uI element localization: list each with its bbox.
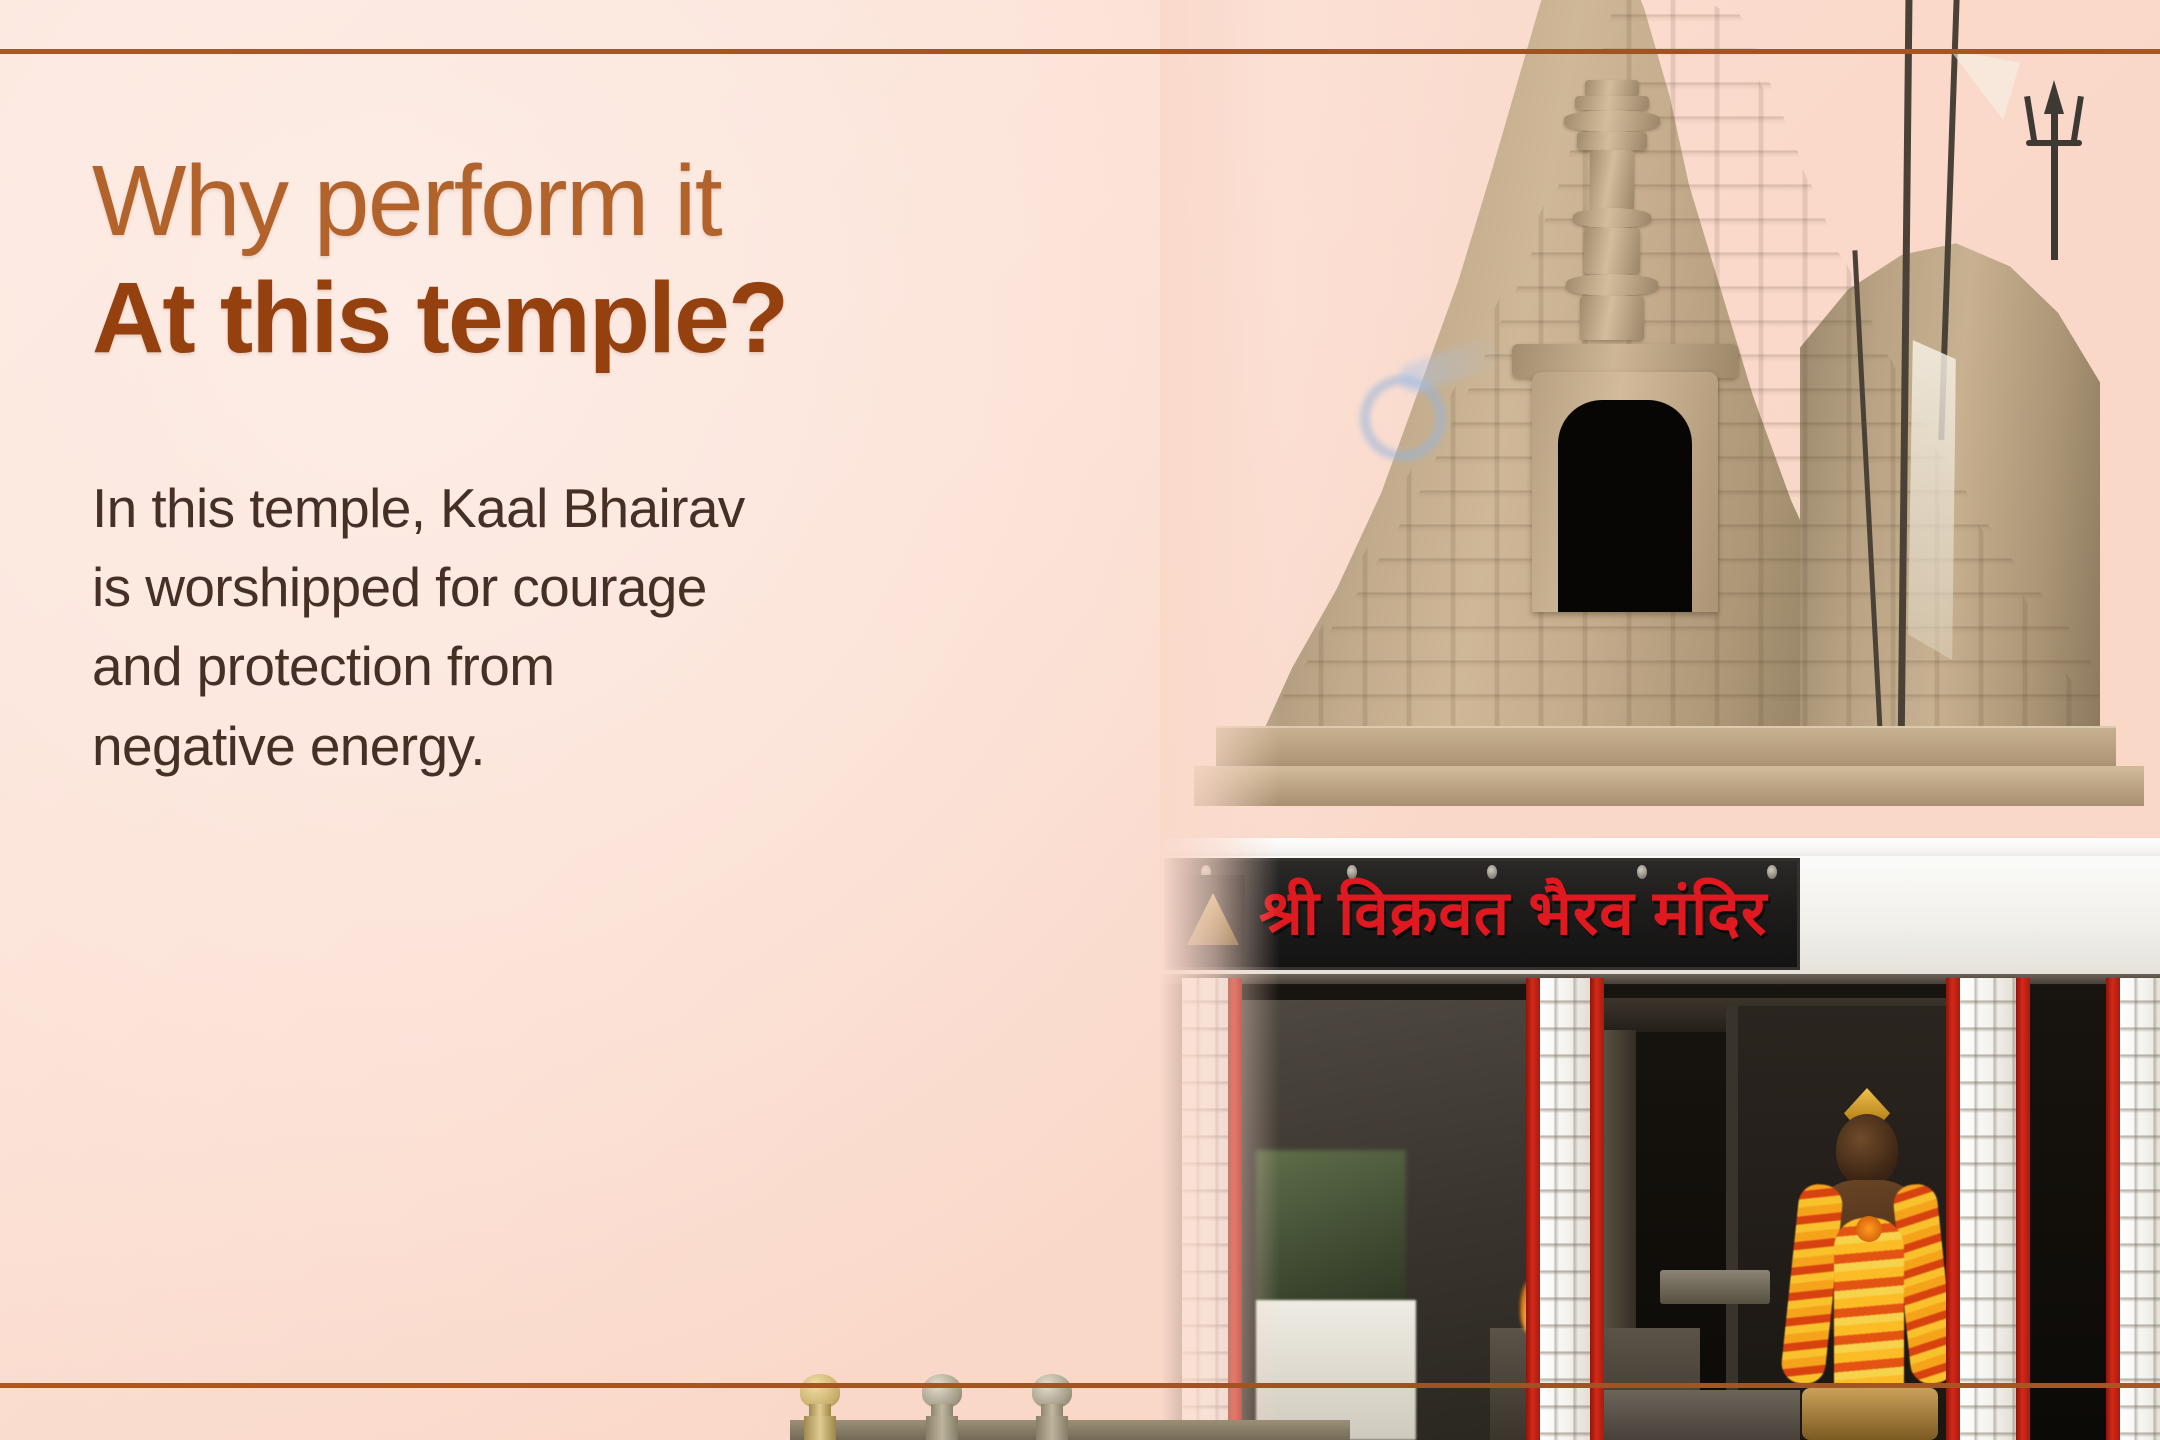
temple-pillar <box>1540 978 1590 1440</box>
temple-signboard: श्री विक्रवत भैरव मंदिर <box>1164 858 1800 970</box>
temple-pillar <box>2120 978 2160 1440</box>
headline-line-2: At this temple? <box>92 266 1092 371</box>
tower-plinth-lower <box>1194 766 2144 806</box>
triangle-emblem-icon <box>1181 875 1245 953</box>
body-line: is worshipped for courage <box>92 548 992 627</box>
temple-pillar <box>1182 978 1228 1440</box>
tower-shrine-niche <box>1532 372 1718 612</box>
text-column: Why perform it At this temple? In this t… <box>92 150 1092 786</box>
body-line: negative energy. <box>92 707 992 786</box>
oil-lamp <box>1660 1270 1770 1304</box>
temple-sign-text: श्री विक्रवत भैरव मंदिर <box>1259 883 1767 945</box>
bottom-divider-rule <box>0 1383 2160 1388</box>
shikhara-tower <box>1160 0 2160 860</box>
body-line: and protection from <box>92 627 992 706</box>
temple-photograph: श्री विक्रवत भैरव मंदिर <box>1160 0 2160 1440</box>
body-paragraph: In this temple, Kaal Bhairav is worshipp… <box>92 469 992 786</box>
top-divider-rule <box>0 49 2160 54</box>
tower-mini-spire <box>1552 80 1672 340</box>
temple-pillar <box>1960 978 2016 1440</box>
headline-line-1: Why perform it <box>92 150 1092 252</box>
flag-cloth <box>1950 50 2020 120</box>
trishul-icon <box>2020 80 2088 260</box>
body-line: In this temple, Kaal Bhairav <box>92 469 992 548</box>
flag-cloth <box>1908 340 1956 660</box>
sign-screws <box>1167 865 1800 883</box>
interior-foliage <box>1256 1150 1406 1320</box>
slide-canvas: श्री विक्रवत भैरव मंदिर Why perform it A… <box>0 0 2160 1440</box>
